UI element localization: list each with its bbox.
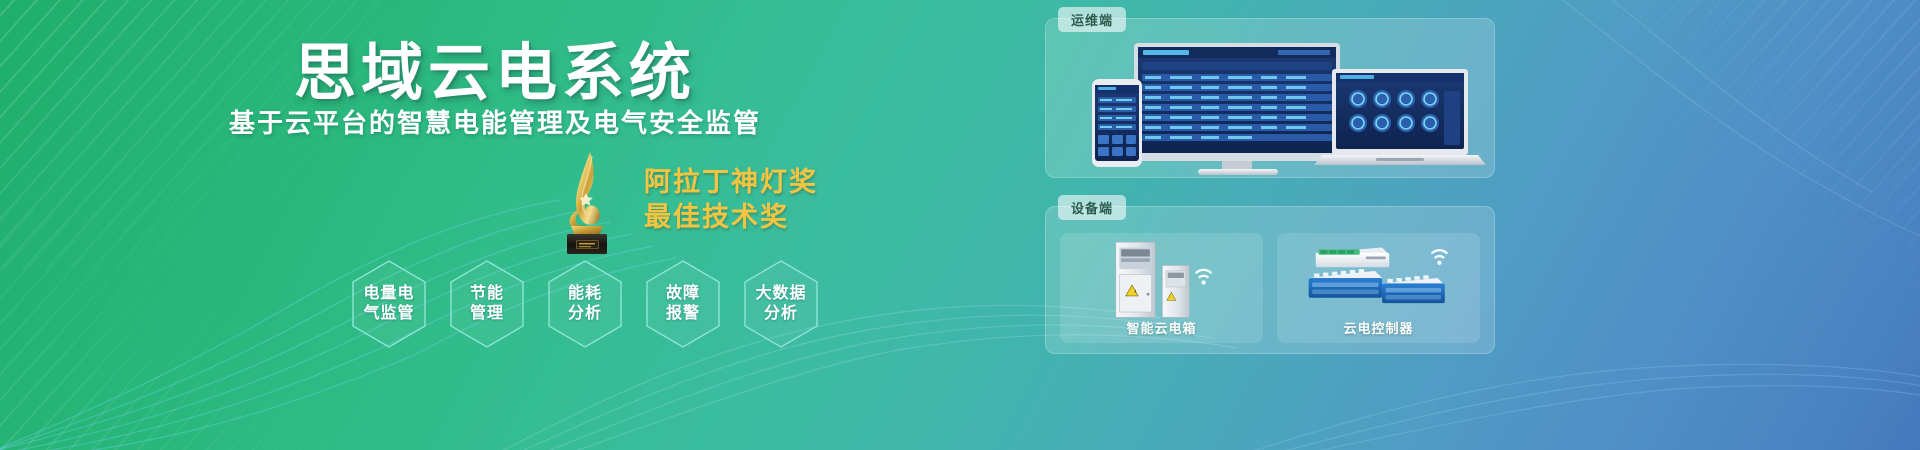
device-card-list: 智能云电箱 — [1060, 233, 1480, 343]
ops-panel: 运维端 — [1045, 18, 1495, 178]
feature-badge[interactable]: 节能 管理 — [446, 258, 528, 350]
device-card[interactable]: 云电控制器 — [1277, 233, 1480, 343]
feature-badge-list: 电量电 气监管 节能 管理 能耗 分析 故障 报警 大数据 分析 — [348, 258, 822, 350]
promo-banner: 思域云电系统 基于云平台的智慧电能管理及电气安全监管 — [0, 0, 1920, 450]
feature-badge-label: 大数据 分析 — [755, 284, 806, 324]
feature-badge-label: 故障 报警 — [666, 284, 700, 324]
device-panel: 设备端 — [1045, 206, 1495, 354]
award-line-2: 最佳技术奖 — [644, 200, 818, 235]
page-title: 思域云电系统 — [0, 22, 1020, 112]
feature-badge[interactable]: 故障 报警 — [642, 258, 724, 350]
feature-badge[interactable]: 大数据 分析 — [740, 258, 822, 350]
feature-badge[interactable]: 能耗 分析 — [544, 258, 626, 350]
award-block: 阿拉丁神灯奖 最佳技术奖 — [556, 148, 818, 256]
ops-device-illustration — [1046, 19, 1494, 177]
banner-right-content: 运维端 — [1045, 18, 1495, 436]
award-line-1: 阿拉丁神灯奖 — [644, 165, 818, 200]
award-text: 阿拉丁神灯奖 最佳技术奖 — [644, 165, 818, 239]
device-panel-tag: 设备端 — [1058, 195, 1126, 220]
feature-badge-label: 电量电 气监管 — [363, 284, 414, 324]
device-card[interactable]: 智能云电箱 — [1060, 233, 1263, 343]
banner-left-content: 思域云电系统 基于云平台的智慧电能管理及电气安全监管 — [0, 0, 1050, 450]
cloud-power-controller-icon — [1277, 235, 1480, 321]
page-subtitle: 基于云平台的智慧电能管理及电气安全监管 — [0, 103, 1020, 140]
trophy-icon — [556, 148, 618, 256]
cloud-power-cabinet-icon — [1060, 235, 1263, 321]
feature-badge-label: 节能 管理 — [470, 284, 504, 324]
feature-badge-label: 能耗 分析 — [568, 284, 602, 324]
feature-badge[interactable]: 电量电 气监管 — [348, 258, 430, 350]
